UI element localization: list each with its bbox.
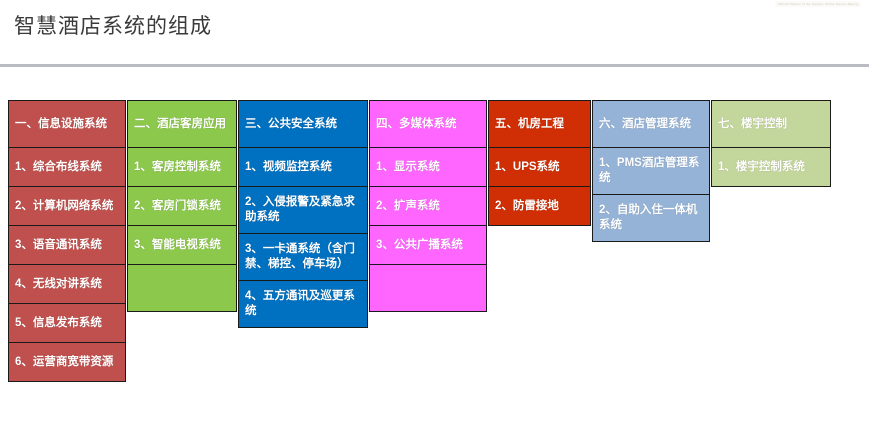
system-composition-table: 一、信息设施系统1、综合布线系统2、计算机网络系统3、语音通讯系统4、无线对讲系… [8,100,832,381]
column-item[interactable]: 1、楼宇控制系统 [711,147,831,187]
column-item[interactable]: 2、扩声系统 [369,186,487,226]
column-item[interactable]: 3、智能电视系统 [127,225,237,265]
column-item[interactable]: 2、入侵报警及紧急求助系统 [238,186,368,234]
column-header[interactable]: 七、楼宇控制 [711,100,831,148]
column-item[interactable]: 1、客房控制系统 [127,147,237,187]
title-divider [0,64,869,67]
column-item[interactable]: 3、公共广播系统 [369,225,487,265]
table-column-7: 七、楼宇控制1、楼宇控制系统 [711,100,831,186]
column-header[interactable]: 一、信息设施系统 [8,100,126,148]
column-item[interactable]: 2、防雷接地 [488,186,591,226]
table-column-6: 六、酒店管理系统1、PMS酒店管理系统2、自助入住一体机系统 [592,100,710,241]
column-header[interactable]: 六、酒店管理系统 [592,100,710,148]
column-item[interactable]: 4、五方通讯及巡更系统 [238,280,368,328]
column-item[interactable]: 4、无线对讲系统 [8,264,126,304]
column-header[interactable]: 四、多媒体系统 [369,100,487,148]
page-title: 智慧酒店系统的组成 [14,10,212,40]
column-item[interactable]: 1、UPS系统 [488,147,591,187]
column-header[interactable]: 五、机房工程 [488,100,591,148]
column-item[interactable]: 3、一卡通系统（含门禁、梯控、停车场） [238,233,368,281]
column-item[interactable]: 2、计算机网络系统 [8,186,126,226]
column-item[interactable]: 6、运营商宽带资源 [8,342,126,382]
column-item[interactable]: 1、综合布线系统 [8,147,126,187]
table-column-3: 三、公共安全系统1、视频监控系统2、入侵报警及紧急求助系统3、一卡通系统（含门禁… [238,100,368,327]
column-item[interactable]: 1、显示系统 [369,147,487,187]
table-column-4: 四、多媒体系统1、显示系统2、扩声系统3、公共广播系统 [369,100,487,311]
column-item[interactable]: 1、PMS酒店管理系统 [592,147,710,195]
table-column-2: 二、酒店客房应用1、客房控制系统2、客房门锁系统3、智能电视系统 [127,100,237,311]
table-column-5: 五、机房工程1、UPS系统2、防雷接地 [488,100,591,225]
column-item[interactable]: 3、语音通讯系统 [8,225,126,265]
column-header[interactable]: 三、公共安全系统 [238,100,368,148]
watermark-text: Official Partner of the Olympic Winter G… [775,1,861,7]
column-item[interactable]: 1、视频监控系统 [238,147,368,187]
column-empty-cell [127,264,237,312]
column-item[interactable]: 2、客房门锁系统 [127,186,237,226]
column-header[interactable]: 二、酒店客房应用 [127,100,237,148]
column-empty-cell [369,264,487,312]
table-column-1: 一、信息设施系统1、综合布线系统2、计算机网络系统3、语音通讯系统4、无线对讲系… [8,100,126,381]
column-item[interactable]: 5、信息发布系统 [8,303,126,343]
column-item[interactable]: 2、自助入住一体机系统 [592,194,710,242]
